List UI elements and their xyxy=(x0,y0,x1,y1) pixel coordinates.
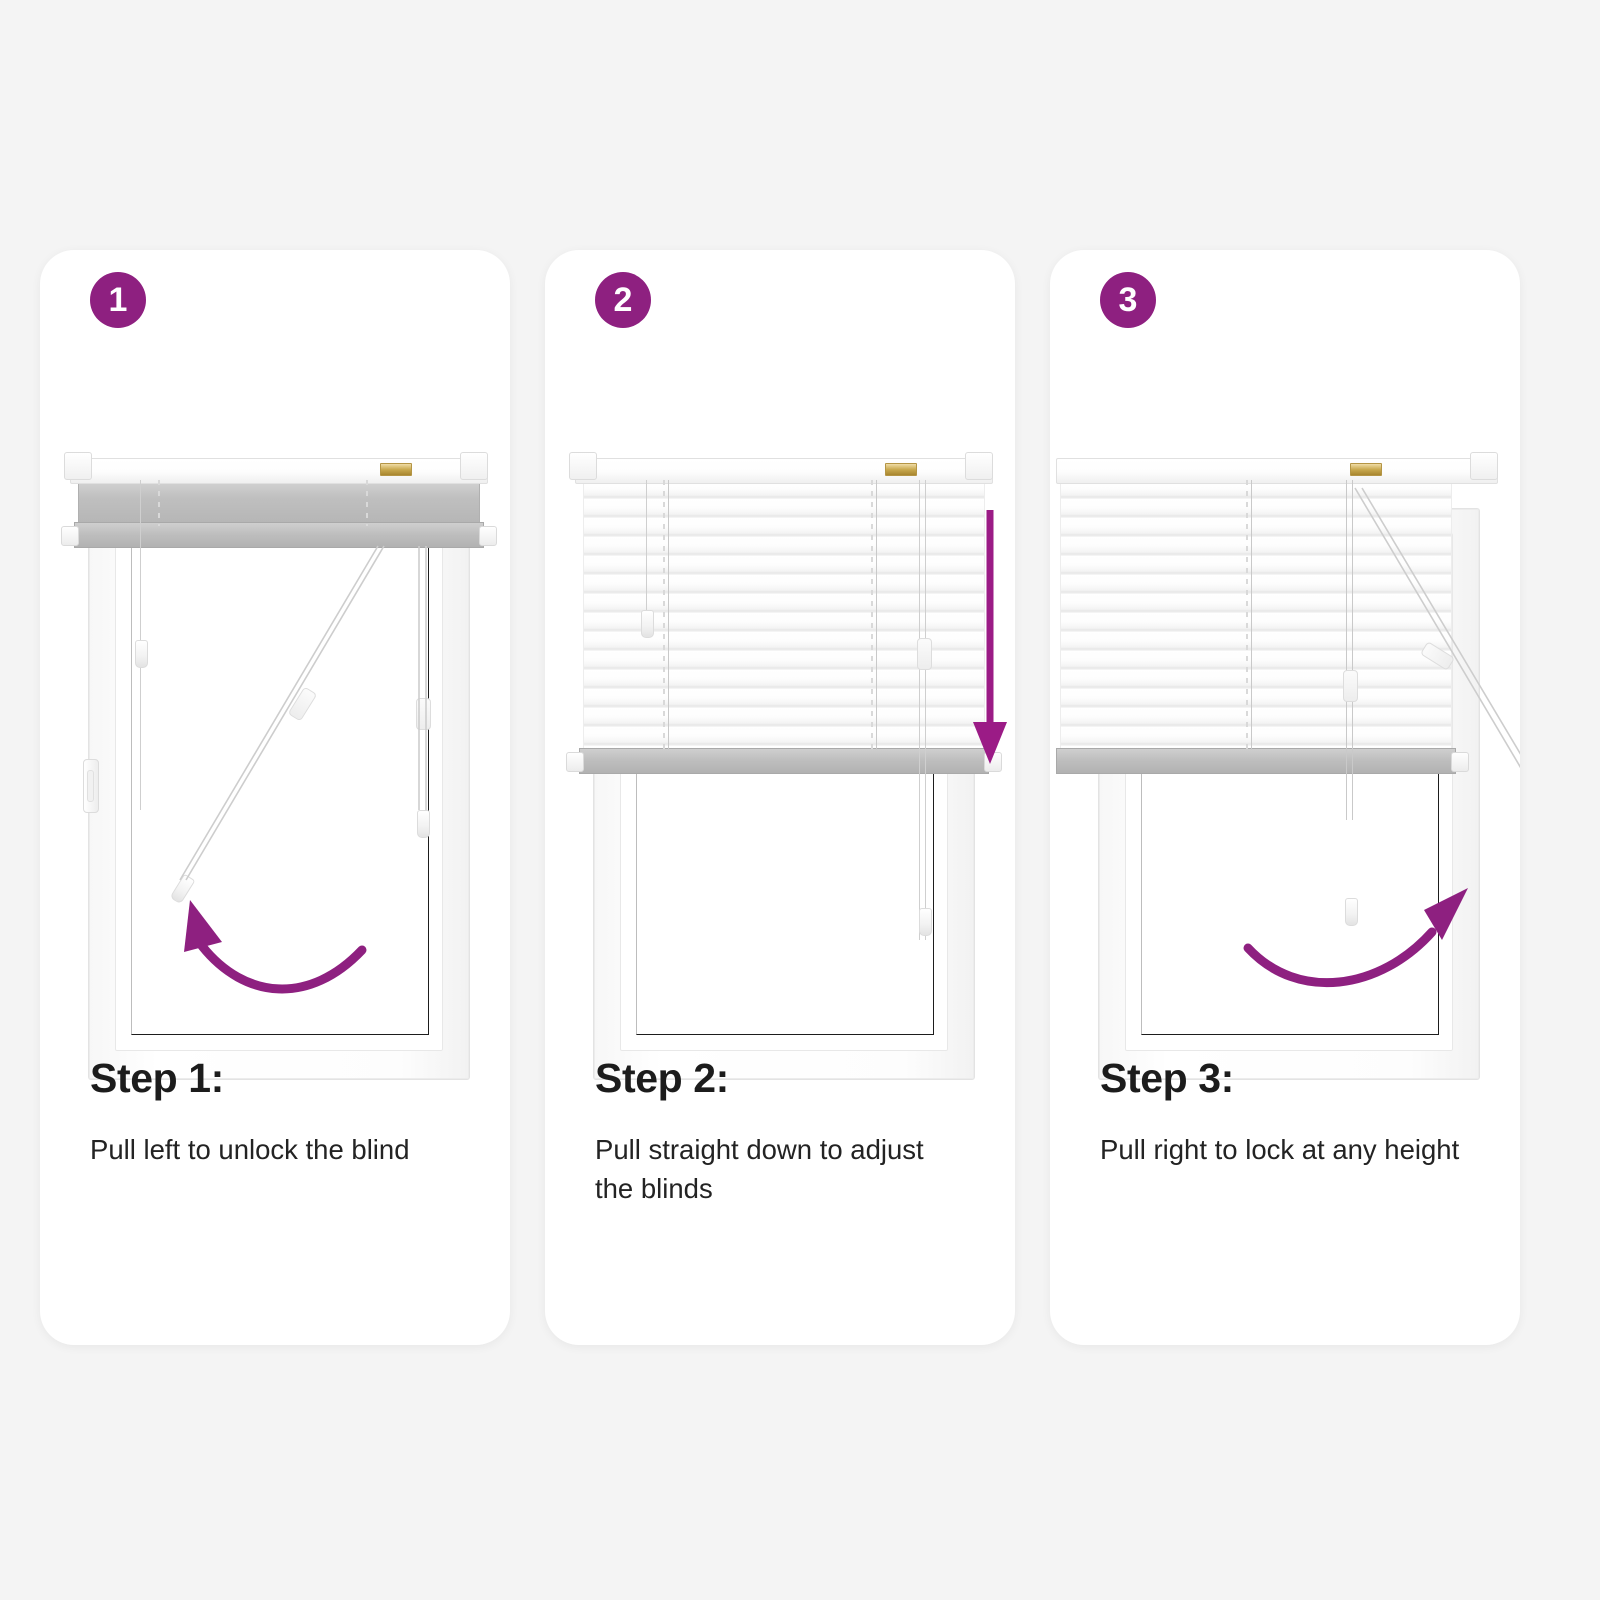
step-title-2: Step 2: xyxy=(595,1055,729,1102)
ladder-tape xyxy=(158,480,160,526)
bottom-rail-cap-left xyxy=(566,752,584,772)
blind-bottom-rail xyxy=(579,748,989,774)
operating-cord xyxy=(925,480,926,940)
blind-bottom-rail xyxy=(1056,748,1456,774)
ladder-tape xyxy=(663,480,665,750)
step-number-badge-3: 3 xyxy=(1100,272,1156,328)
step-title-1: Step 1: xyxy=(90,1055,224,1102)
blind-headrail xyxy=(1056,458,1498,484)
cord-tassel xyxy=(417,810,430,838)
bottom-rail-cap-left xyxy=(61,526,79,546)
step-illustration-1 xyxy=(40,340,510,1040)
brand-tag-icon xyxy=(885,463,917,476)
window-sash xyxy=(115,533,443,1051)
ladder-tape xyxy=(871,480,873,750)
cord-tassel xyxy=(1345,898,1358,926)
blind-headrail xyxy=(575,458,993,484)
window-frame xyxy=(88,508,470,1080)
lift-cord xyxy=(1251,480,1252,750)
step-card-3: 3 xyxy=(1050,250,1520,1345)
cord-tassel xyxy=(919,908,932,936)
bottom-rail-cap-right xyxy=(479,526,497,546)
operating-cord xyxy=(919,480,920,940)
step-card-1: 1 xyxy=(40,250,510,1345)
tilt-cord-wand xyxy=(135,640,148,668)
blind-slat-stack-collapsed xyxy=(78,480,480,526)
step-description-1: Pull left to unlock the blind xyxy=(90,1130,450,1169)
step-illustration-3 xyxy=(1050,340,1520,1040)
step-card-2: 2 xyxy=(545,250,1015,1345)
brand-tag-icon xyxy=(1350,463,1382,476)
brand-tag-icon xyxy=(380,463,412,476)
window-glass-pane xyxy=(131,547,429,1035)
bottom-rail-cap-right xyxy=(1451,752,1469,772)
step-description-2: Pull straight down to adjust the blinds xyxy=(595,1130,955,1208)
ladder-tape xyxy=(1246,480,1248,750)
step-illustration-2 xyxy=(545,340,1015,1040)
headrail-bracket-right xyxy=(460,452,488,480)
tilt-cord xyxy=(646,480,647,615)
window-handle xyxy=(83,759,99,813)
lift-cord xyxy=(876,480,877,750)
bottom-rail-cap-right xyxy=(984,752,1002,772)
lift-cord xyxy=(668,480,669,750)
step-title-3: Step 3: xyxy=(1100,1055,1234,1102)
blind-slats xyxy=(1060,480,1452,750)
tilt-cord-wand xyxy=(641,610,654,638)
lift-cord xyxy=(1352,480,1353,820)
headrail-bracket-left xyxy=(64,452,92,480)
cord-connector xyxy=(416,698,431,730)
lift-cord xyxy=(1346,480,1347,820)
ladder-tape xyxy=(366,480,368,526)
headrail-bracket-left xyxy=(569,452,597,480)
step-number-badge-1: 1 xyxy=(90,272,146,328)
headrail-bracket-right xyxy=(965,452,993,480)
blind-bottom-rail xyxy=(74,522,484,548)
headrail-bracket-right xyxy=(1470,452,1498,480)
instruction-board: 1 xyxy=(0,0,1600,1600)
cord-connector xyxy=(917,638,932,670)
step-number-badge-2: 2 xyxy=(595,272,651,328)
blind-headrail xyxy=(70,458,488,484)
step-description-3: Pull right to lock at any height xyxy=(1100,1130,1460,1169)
cord-connector xyxy=(1343,670,1358,702)
